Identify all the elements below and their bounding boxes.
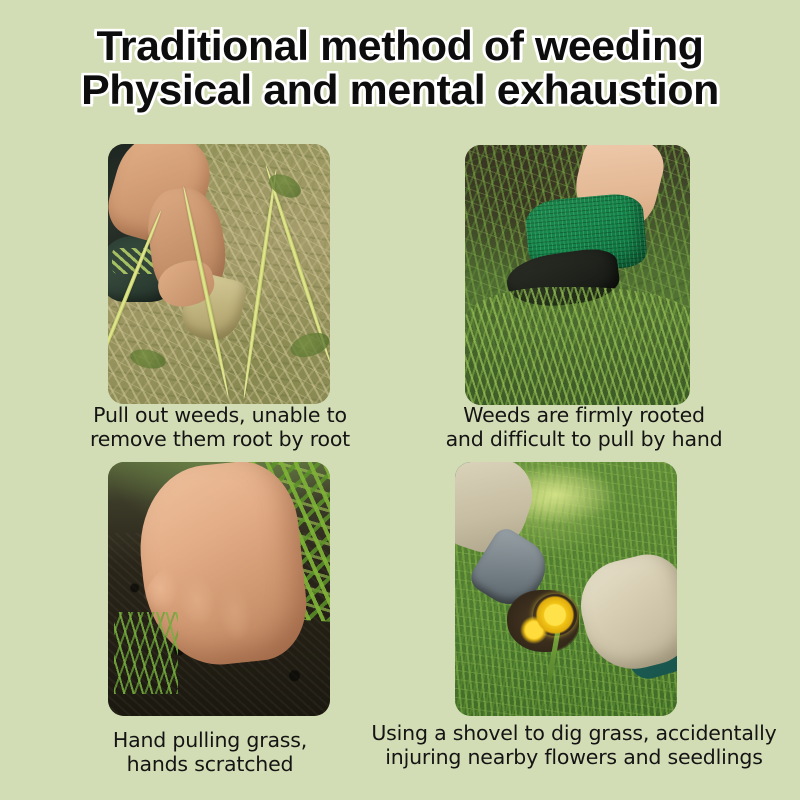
photo-bare-hand-pulling-grass-in-soil <box>108 462 330 716</box>
photo-4-dandelion-flower <box>533 594 577 636</box>
caption-panel-1: Pull out weeds, unable to remove them ro… <box>40 404 400 452</box>
page-title: Traditional method of weeding Physical a… <box>0 24 800 111</box>
caption-panel-2: Weeds are firmly rooted and difficult to… <box>400 404 768 452</box>
caption-panel-4: Using a shovel to dig grass, accidentall… <box>352 722 796 770</box>
caption-panel-3: Hand pulling grass, hands scratched <box>60 729 360 777</box>
title-line-1: Traditional method of weeding <box>0 24 800 68</box>
photo-3-seedling <box>114 612 178 694</box>
photo-hands-pulling-dry-weeds <box>108 144 330 404</box>
photo-trowel-digging-dandelion <box>455 462 677 716</box>
photo-green-glove-gripping-grass <box>465 145 690 405</box>
title-line-2: Physical and mental exhaustion <box>0 68 800 112</box>
photo-2-foreground-grass <box>465 287 690 405</box>
